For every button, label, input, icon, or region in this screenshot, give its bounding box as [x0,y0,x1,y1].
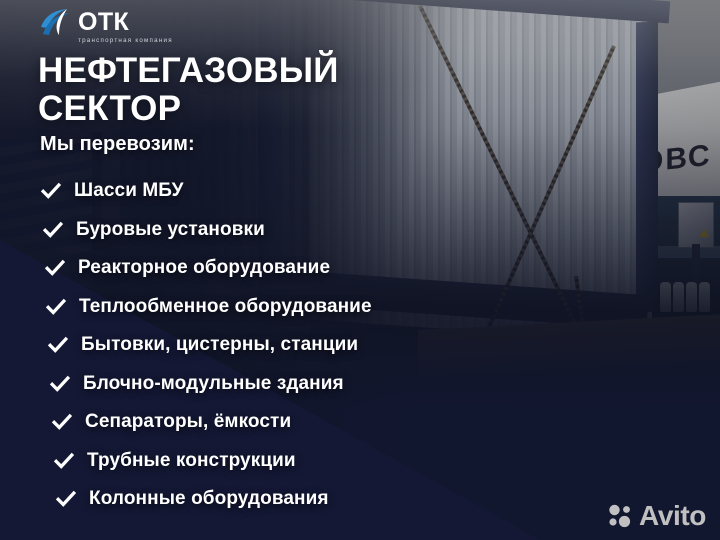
list-item-label: Буровые установки [76,219,265,241]
list-item: Колонные оборудования [40,480,470,519]
list-item: Шасси МБУ [40,172,470,211]
avito-watermark: Avito [607,502,706,530]
list-item-label: Реакторное оборудование [78,257,330,279]
avito-dots-icon [607,503,633,529]
list-item: Бытовки, цистерны, станции [40,326,470,365]
check-icon [40,180,62,202]
list-item-label: Теплообменное оборудование [79,296,372,318]
list-item-label: Шасси МБУ [74,180,183,202]
list-item: Теплообменное оборудование [40,288,470,327]
check-icon [47,334,69,356]
list-item-label: Колонные оборудования [89,488,329,510]
check-icon [51,411,73,433]
check-icon [55,488,77,510]
check-icon [53,450,75,472]
promo-banner: ОВС [0,0,720,540]
list-item: Блочно-модульные здания [40,365,470,404]
page-title: НЕФТЕГАЗОВЫЙ СЕКТОР [38,52,498,128]
list-item: Буровые установки [40,211,470,250]
avito-label: Avito [639,502,706,530]
check-icon [44,257,66,279]
headline-line-1: НЕФТЕГАЗОВЫЙ [38,52,498,90]
list-item-label: Бытовки, цистерны, станции [81,334,358,356]
headline-line-2: СЕКТОР [38,90,498,128]
check-icon [49,373,71,395]
check-icon [42,219,64,241]
list-item: Трубные конструкции [40,442,470,481]
services-list: Шасси МБУ Буровые установки Реакторное о… [40,172,470,519]
otk-swoosh-icon [40,8,74,38]
brand-name: ОТК [78,9,173,35]
list-item-label: Сепараторы, ёмкости [85,411,291,433]
list-item: Реакторное оборудование [40,249,470,288]
brand-logo[interactable]: ОТК транспортная компания [40,8,173,46]
list-item-label: Блочно-модульные здания [83,373,344,395]
list-item-label: Трубные конструкции [87,450,296,472]
check-icon [45,296,67,318]
subheading: Мы перевозим: [40,133,195,156]
content-layer: ОТК транспортная компания НЕФТЕГАЗОВЫЙ С… [0,0,720,540]
list-item: Сепараторы, ёмкости [40,403,470,442]
brand-tagline: транспортная компания [78,36,173,46]
